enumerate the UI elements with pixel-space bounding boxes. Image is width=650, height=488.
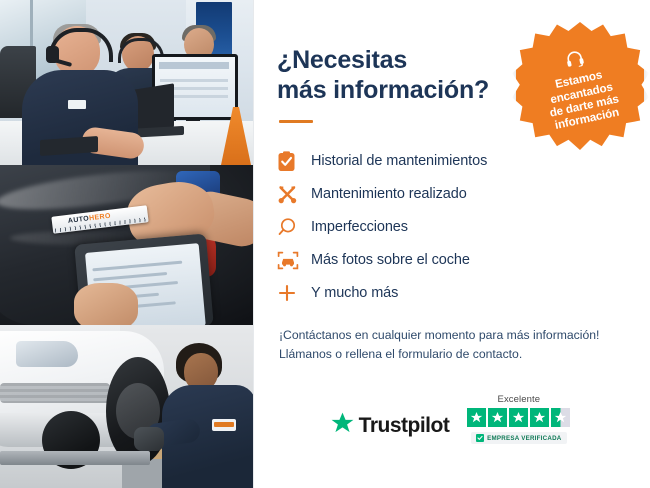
technician xyxy=(160,343,253,488)
verified-check-icon xyxy=(476,434,484,442)
trustpilot-logo[interactable]: Trustpilot xyxy=(331,412,450,439)
plus-icon xyxy=(277,283,311,303)
inspector-hand-holding-tablet xyxy=(74,283,138,325)
headline-line-1: ¿Necesitas xyxy=(277,46,407,74)
star-icon xyxy=(509,408,528,427)
information-banner: AUTOHERO xyxy=(0,0,650,488)
contact-line-2: Llámanos o rellena el formulario de cont… xyxy=(279,347,522,361)
panel-divider xyxy=(253,0,254,488)
verified-company-badge: EMPRESA VERIFICADA xyxy=(471,432,566,444)
clipboard-check-icon xyxy=(277,151,311,172)
call-center-agents-photo xyxy=(0,0,253,165)
star-icon xyxy=(488,408,507,427)
workshop-wheel-check-photo xyxy=(0,325,253,488)
car-inspection-photo: AUTOHERO xyxy=(0,165,253,325)
content-panel: ¿Necesitas más información? Historial de… xyxy=(253,0,650,488)
feature-list: Historial de mantenimientos M xyxy=(277,145,624,310)
list-item: Imperfecciones xyxy=(277,211,624,244)
car-frame-icon xyxy=(277,250,311,271)
car-headlight xyxy=(16,341,78,367)
star-half-icon xyxy=(551,408,570,427)
photo-collage: AUTOHERO xyxy=(0,0,253,488)
tools-cross-icon xyxy=(277,184,311,205)
magnifier-icon xyxy=(277,217,311,237)
trustpilot-rating: Excelente xyxy=(467,394,570,444)
list-item-label: Mantenimiento realizado xyxy=(311,186,467,202)
list-item-label: Más fotos sobre el coche xyxy=(311,252,470,268)
trustpilot-star-icon xyxy=(331,412,354,439)
verified-label: EMPRESA VERIFICADA xyxy=(487,435,561,442)
contact-text: ¡Contáctanos en cualquier momento para m… xyxy=(279,326,624,366)
star-icon xyxy=(467,408,486,427)
work-glove xyxy=(134,427,164,451)
list-item: Mantenimiento realizado xyxy=(277,178,624,211)
ruler-brand-part2: HERO xyxy=(89,213,112,223)
title-underline xyxy=(279,120,313,123)
car-lift-ramp xyxy=(0,451,150,465)
headline-line-2: más información? xyxy=(277,76,489,104)
list-item-label: Y mucho más xyxy=(311,285,398,301)
trustpilot-widget[interactable]: Trustpilot Excelente xyxy=(277,394,624,444)
list-item: Más fotos sobre el coche xyxy=(277,244,624,277)
rating-label: Excelente xyxy=(498,394,541,405)
car-grille xyxy=(0,383,110,403)
list-item-label: Imperfecciones xyxy=(311,219,408,235)
star-rating xyxy=(467,408,570,427)
contact-line-1: ¡Contáctanos en cualquier momento para m… xyxy=(279,328,599,342)
ruler-brand-part1: AUTO xyxy=(68,215,90,225)
star-icon xyxy=(530,408,549,427)
list-item-label: Historial de mantenimientos xyxy=(311,153,487,169)
info-badge: Estamos encantados de darte más informac… xyxy=(516,22,644,150)
list-item: Y mucho más xyxy=(277,277,624,310)
trustpilot-wordmark: Trustpilot xyxy=(359,414,450,438)
headset-icon xyxy=(563,48,586,74)
